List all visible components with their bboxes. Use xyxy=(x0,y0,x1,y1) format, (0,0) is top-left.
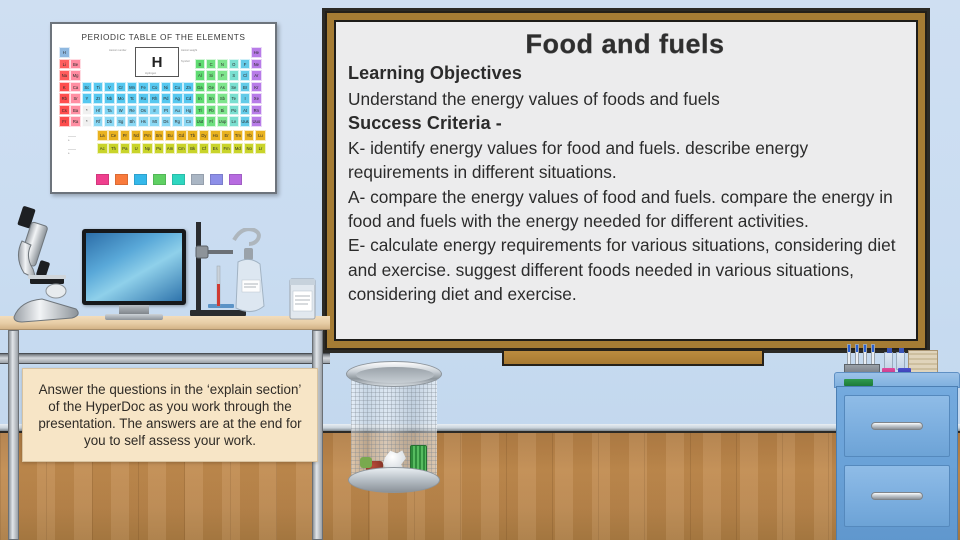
periodic-table-grid: H Atomic number Atomic weight Symbol Hyd… xyxy=(57,46,270,142)
element-cell: Mn xyxy=(127,82,138,93)
element-cell: Tm xyxy=(233,130,244,141)
bench-leg-left xyxy=(8,330,19,540)
element-cell: Y xyxy=(82,93,93,104)
whiteboard: Food and fuels Learning ObjectivesUnders… xyxy=(322,8,930,353)
element-cell: Rb xyxy=(59,93,70,104)
element-cell: Cu xyxy=(172,82,183,93)
element-cell: Uup xyxy=(217,116,228,127)
element-cell: Ta xyxy=(104,105,115,116)
element-cell: B xyxy=(195,59,206,70)
callout-label-name: Hydrogen xyxy=(145,72,156,75)
element-cell: Fl xyxy=(206,116,217,127)
element-cell: O xyxy=(229,59,240,70)
element-cell: Rg xyxy=(172,116,183,127)
element-cell: Db xyxy=(104,116,115,127)
monitor-stand xyxy=(119,305,149,314)
element-cell: Te xyxy=(229,93,240,104)
cabinet-body xyxy=(836,386,958,540)
instruction-text: Answer the questions in the ‘explain sec… xyxy=(33,381,307,449)
lab-bench-rail xyxy=(0,353,330,364)
poster-title: PERIODIC TABLE OF THE ELEMENTS xyxy=(57,32,270,42)
labelled-beaker xyxy=(288,277,317,321)
lesson-heading: Success Criteria - xyxy=(348,111,902,136)
waste-basket-rim-inner xyxy=(356,367,434,383)
test-tube-rack xyxy=(844,342,880,374)
element-cell: Sb xyxy=(217,93,228,104)
element-cell: Ra xyxy=(70,116,81,127)
element-cell: I xyxy=(240,93,251,104)
element-cell: Rh xyxy=(149,93,160,104)
element-cell: Ag xyxy=(172,93,183,104)
row-marker: —— * xyxy=(68,133,76,143)
element-cell: Fe xyxy=(138,82,149,93)
element-cell: Yb xyxy=(244,130,255,141)
element-cell: Dy xyxy=(199,130,210,141)
element-cell: Ne xyxy=(251,59,262,70)
element-cell: Sg xyxy=(116,116,127,127)
element-cell: Cr xyxy=(116,82,127,93)
element-cell: Sc xyxy=(82,82,93,93)
supply-box xyxy=(908,350,938,374)
element-cell: Nd xyxy=(131,130,142,141)
element-cell: Pu xyxy=(154,143,165,154)
element-cell: Os xyxy=(138,105,149,116)
instruction-box: Answer the questions in the ‘explain sec… xyxy=(22,368,318,462)
lesson-line: E- calculate energy requirements for var… xyxy=(348,233,902,306)
element-cell: Mg xyxy=(70,70,81,81)
element-cell: Pt xyxy=(161,105,172,116)
legend-swatch xyxy=(115,174,128,185)
element-cell: Md xyxy=(233,143,244,154)
element-cell: Th xyxy=(108,143,119,154)
element-cell: Uuo xyxy=(251,116,262,127)
element-cell: Xe xyxy=(251,93,262,104)
storage-cabinet xyxy=(834,372,960,540)
element-cell: Np xyxy=(142,143,153,154)
callout-label-symbol: Symbol xyxy=(181,60,190,63)
element-cell: K xyxy=(59,82,70,93)
element-cell: Nb xyxy=(104,93,115,104)
element-cell: Uus xyxy=(240,116,251,127)
element-cell: Se xyxy=(229,82,240,93)
element-cell: No xyxy=(244,143,255,154)
element-cell: Tb xyxy=(187,130,198,141)
lesson-heading: Learning Objectives xyxy=(348,61,902,86)
element-cell: F xyxy=(240,59,251,70)
element-cell: W xyxy=(116,105,127,116)
row-marker: —— * xyxy=(68,146,76,156)
whiteboard-face: Food and fuels Learning ObjectivesUnders… xyxy=(334,20,918,341)
waste-basket xyxy=(346,361,442,496)
element-cell: Mt xyxy=(149,116,160,127)
element-cell: Sr xyxy=(70,93,81,104)
element-cell: Ca xyxy=(70,82,81,93)
callout-label-atomic-weight: Atomic weight xyxy=(181,49,197,52)
drawer-handle[interactable] xyxy=(871,492,923,500)
element-cell: Cs xyxy=(59,105,70,116)
element-cell: Lr xyxy=(255,143,266,154)
hydrogen-callout: H xyxy=(135,47,179,77)
element-cell: Al xyxy=(195,70,206,81)
element-cell: Tl xyxy=(195,105,206,116)
legend-swatch xyxy=(210,174,223,185)
element-cell: Ti xyxy=(93,82,104,93)
element-cell: Na xyxy=(59,70,70,81)
element-cell: Lu xyxy=(255,130,266,141)
element-cell: Pm xyxy=(142,130,153,141)
element-cell: Cf xyxy=(199,143,210,154)
monitor-bezel xyxy=(82,229,186,305)
element-cell: Po xyxy=(229,105,240,116)
element-cell: Au xyxy=(172,105,183,116)
element-cell: Fm xyxy=(221,143,232,154)
element-cell: Ho xyxy=(210,130,221,141)
periodic-table-poster: PERIODIC TABLE OF THE ELEMENTS H Atomic … xyxy=(50,22,277,194)
element-cell: Ni xyxy=(161,82,172,93)
waste-basket-rim xyxy=(346,361,442,387)
legend-swatch xyxy=(229,174,242,185)
element-cell: Co xyxy=(149,82,160,93)
element-cell: Ga xyxy=(195,82,206,93)
litter-item xyxy=(360,457,372,468)
element-cell: U xyxy=(131,143,142,154)
element-cell: Hg xyxy=(183,105,194,116)
element-cell: * xyxy=(82,105,93,116)
element-cell: Zr xyxy=(93,93,104,104)
element-cell: Tc xyxy=(127,93,138,104)
element-cell: Hf xyxy=(93,105,104,116)
element-cell: As xyxy=(217,82,228,93)
element-cell: Sn xyxy=(206,93,217,104)
element-cell: Si xyxy=(206,70,217,81)
legend-swatch xyxy=(96,174,109,185)
element-cell: Pb xyxy=(206,105,217,116)
element-cell: Zn xyxy=(183,82,194,93)
whiteboard-ledge xyxy=(502,349,764,366)
computer-monitor xyxy=(82,229,186,321)
element-cell: Ar xyxy=(251,70,262,81)
element-cell: Er xyxy=(221,130,232,141)
element-cell: N xyxy=(217,59,228,70)
element-cell: Gd xyxy=(176,130,187,141)
element-cell: Br xyxy=(240,82,251,93)
lesson-title: Food and fuels xyxy=(348,29,902,59)
element-cell: Cl xyxy=(240,70,251,81)
callout-label-atomic-number: Atomic number xyxy=(109,49,126,52)
element-cell: Ds xyxy=(161,116,172,127)
element-cell: Ru xyxy=(138,93,149,104)
element-cell: Ge xyxy=(206,82,217,93)
lesson-line: Understand the energy values of foods an… xyxy=(348,87,902,111)
classroom-slide: PERIODIC TABLE OF THE ELEMENTS H Atomic … xyxy=(0,0,960,540)
element-cell: P xyxy=(217,70,228,81)
element-cell: Fr xyxy=(59,116,70,127)
element-cell: Li xyxy=(59,59,70,70)
element-cell: Rn xyxy=(251,105,262,116)
element-cell: Bk xyxy=(187,143,198,154)
waste-basket-base xyxy=(348,467,440,493)
wash-bottle xyxy=(228,228,272,323)
element-cell: Mo xyxy=(116,93,127,104)
element-cell: Cd xyxy=(183,93,194,104)
element-cell: Ba xyxy=(70,105,81,116)
element-cell: S xyxy=(229,70,240,81)
legend-swatch xyxy=(134,174,147,185)
lesson-line: A- compare the energy values of food and… xyxy=(348,185,902,234)
element-cell: Pa xyxy=(120,143,131,154)
element-cell: Hs xyxy=(138,116,149,127)
element-cell: Am xyxy=(165,143,176,154)
element-cell: V xyxy=(104,82,115,93)
element-cell: Ce xyxy=(108,130,119,141)
element-cell: Es xyxy=(210,143,221,154)
green-tray xyxy=(844,379,873,386)
element-cell: Pr xyxy=(120,130,131,141)
lesson-line: K- identify energy values for food and f… xyxy=(348,136,902,185)
element-cell: Ir xyxy=(149,105,160,116)
legend-swatch xyxy=(172,174,185,185)
cabinet-drawer-bottom[interactable] xyxy=(844,465,950,527)
element-cell: Lv xyxy=(229,116,240,127)
cabinet-drawer-top[interactable] xyxy=(844,395,950,457)
element-cell: Eu xyxy=(165,130,176,141)
whiteboard-frame: Food and fuels Learning ObjectivesUnders… xyxy=(325,11,927,350)
monitor-base xyxy=(105,314,163,320)
element-cell: In xyxy=(195,93,206,104)
element-cell: Bi xyxy=(217,105,228,116)
legend-swatch xyxy=(153,174,166,185)
element-cell: H xyxy=(59,47,70,58)
element-cell: Cm xyxy=(176,143,187,154)
element-cell: He xyxy=(251,47,262,58)
legend-swatch xyxy=(191,174,204,185)
element-cell: Uut xyxy=(195,116,206,127)
element-cell: Pd xyxy=(161,93,172,104)
poster-legend xyxy=(52,174,275,190)
element-cell: Re xyxy=(127,105,138,116)
element-cell: Kr xyxy=(251,82,262,93)
element-cell: Cn xyxy=(183,116,194,127)
element-cell: Ac xyxy=(97,143,108,154)
drawer-handle[interactable] xyxy=(871,422,923,430)
monitor-screen xyxy=(86,233,182,301)
element-cell: At xyxy=(240,105,251,116)
element-cell: Be xyxy=(70,59,81,70)
element-cell: La xyxy=(97,130,108,141)
element-cell: C xyxy=(206,59,217,70)
microscope xyxy=(8,205,90,323)
element-cell: * xyxy=(82,116,93,127)
element-cell: Sm xyxy=(154,130,165,141)
element-cell: Bh xyxy=(127,116,138,127)
lesson-content: Learning ObjectivesUnderstand the energy… xyxy=(348,61,902,306)
element-cell: Rf xyxy=(93,116,104,127)
